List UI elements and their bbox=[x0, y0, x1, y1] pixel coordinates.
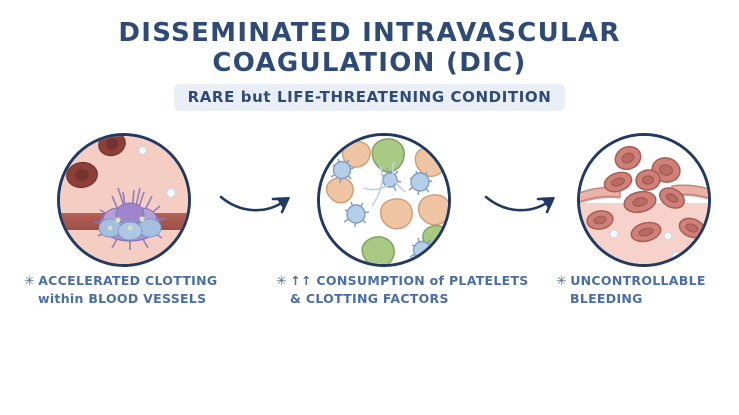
panel-consumption bbox=[317, 133, 451, 267]
badge-text-before: RARE bbox=[188, 88, 235, 106]
caption-line: ✳UNCONTROLLABLE bbox=[556, 272, 739, 290]
caption-text: PLATELETS bbox=[449, 273, 529, 288]
illustration-platelets-and-factors bbox=[317, 133, 451, 267]
caption-line: ✳↑↑ CONSUMPTION of PLATELETS bbox=[276, 272, 526, 290]
caption-text: & CLOTTING FACTORS bbox=[290, 291, 449, 306]
badge-text-lower: but bbox=[241, 88, 271, 106]
caption-line: BLEEDING bbox=[556, 290, 739, 307]
badge-text-after: LIFE-THREATENING CONDITION bbox=[277, 88, 551, 106]
caption-clotting: ✳ACCELERATED CLOTTING within BLOOD VESSE… bbox=[24, 272, 264, 307]
platelet-clot-mass-icon bbox=[60, 136, 191, 267]
asterisk-bullet-icon: ✳ bbox=[556, 273, 567, 290]
arrow-step-2-to-3 bbox=[483, 186, 561, 220]
caption-consumption: ✳↑↑ CONSUMPTION of PLATELETS & CLOTTING … bbox=[276, 272, 526, 307]
subtitle-badge-container: RARE but LIFE-THREATENING CONDITION bbox=[0, 84, 739, 111]
panel-bleeding bbox=[577, 133, 711, 267]
caption-text: UNCONTROLLABLE bbox=[570, 273, 706, 288]
caption-bleeding: ✳UNCONTROLLABLE BLEEDING bbox=[556, 272, 739, 307]
title-line-1: DISSEMINATED INTRAVASCULAR bbox=[0, 18, 739, 48]
caption-text: CONSUMPTION bbox=[316, 273, 425, 288]
arrow-step-1-to-2 bbox=[218, 186, 296, 220]
bleeding-illustration-icon bbox=[580, 136, 711, 267]
panel-row bbox=[0, 133, 739, 273]
caption-text-lower: of bbox=[430, 273, 445, 288]
caption-text: BLOOD VESSELS bbox=[88, 291, 206, 306]
caption-line: within BLOOD VESSELS bbox=[24, 290, 264, 307]
title-line-2: COAGULATION (DIC) bbox=[0, 48, 739, 78]
caption-line: ✳ACCELERATED CLOTTING bbox=[24, 272, 264, 290]
illustration-blood-vessel-clot bbox=[57, 133, 191, 267]
double-up-arrow-icon: ↑↑ bbox=[290, 273, 312, 288]
consumption-illustration-icon bbox=[320, 136, 451, 267]
illustration-uncontrollable-bleeding bbox=[577, 133, 711, 267]
caption-text: BLEEDING bbox=[570, 291, 643, 306]
asterisk-bullet-icon: ✳ bbox=[24, 273, 35, 290]
asterisk-bullet-icon: ✳ bbox=[276, 273, 287, 290]
panel-clotting bbox=[57, 133, 191, 267]
infographic-canvas: DISSEMINATED INTRAVASCULAR COAGULATION (… bbox=[0, 0, 739, 415]
status-badge: RARE but LIFE-THREATENING CONDITION bbox=[174, 84, 566, 111]
page-title: DISSEMINATED INTRAVASCULAR COAGULATION (… bbox=[0, 18, 739, 78]
caption-text-lower: within bbox=[38, 291, 84, 306]
caption-line: & CLOTTING FACTORS bbox=[276, 290, 526, 307]
caption-text: ACCELERATED CLOTTING bbox=[38, 273, 217, 288]
